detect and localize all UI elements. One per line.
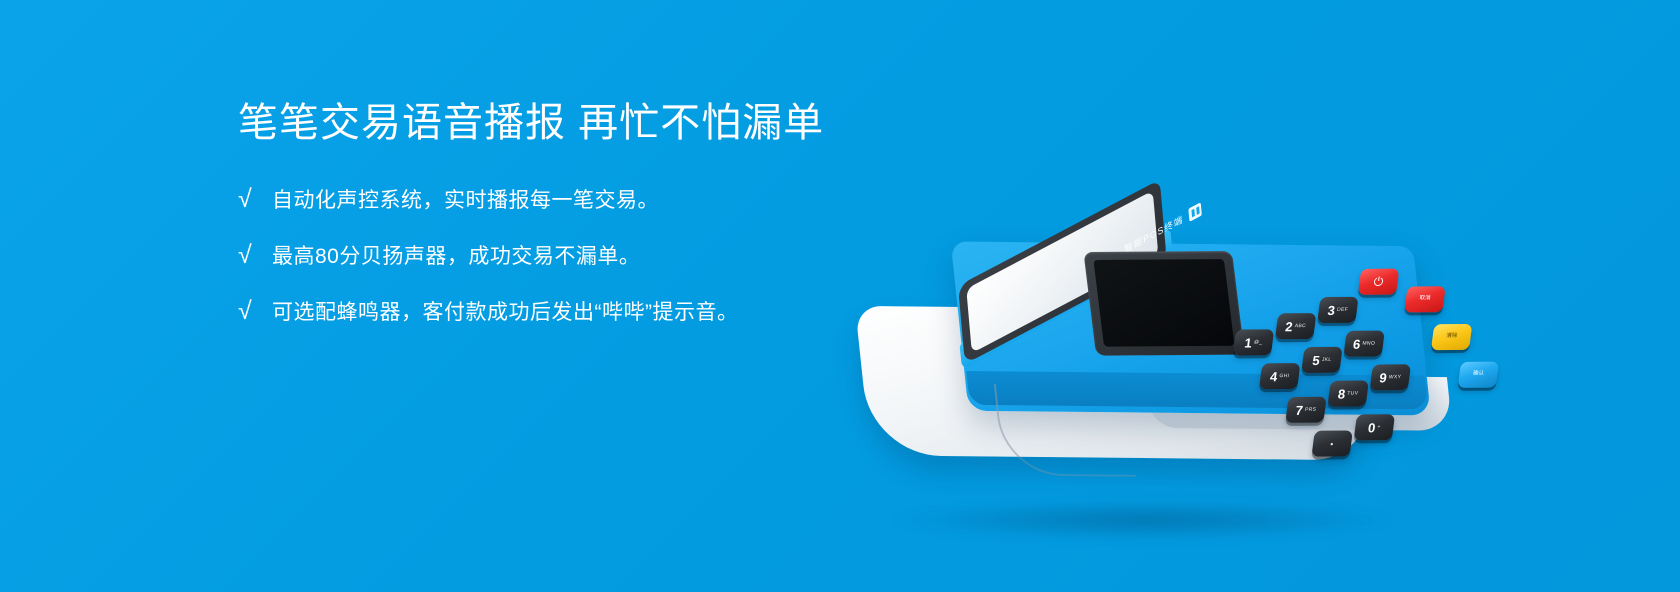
copy-block: 笔笔交易语音播报 再忙不怕漏单 √ 自动化声控系统，实时播报每一笔交易。 √ 最… [238, 98, 938, 352]
key-clear-label: 清除 [1446, 334, 1458, 340]
key-cancel-label: 取消 [1419, 296, 1431, 302]
key-6[interactable]: 6MNO [1343, 331, 1384, 357]
device-keypad: 1@_2ABC3DEF4GHI5JKL6MNO7PRS8TUV9WXY·0+⏻取… [1225, 266, 1474, 417]
pos-terminal-illustration: 智能POS终端 1@_2ABC3DEF4GHI5JKL6MNO7PRS8TUV9… [845, 200, 1505, 560]
check-icon: √ [238, 184, 272, 214]
key-clear[interactable]: 清除 [1431, 324, 1472, 350]
key-8-digit: 8 [1337, 387, 1346, 400]
key-dot[interactable]: · [1311, 430, 1352, 456]
key-dot-digit: · [1329, 437, 1335, 450]
key-2[interactable]: 2ABC [1275, 313, 1316, 339]
key-6-digit: 6 [1352, 337, 1361, 350]
key-0[interactable]: 0+ [1354, 414, 1395, 440]
list-item: √ 自动化声控系统，实时播报每一笔交易。 [238, 184, 938, 214]
key-9-digit: 9 [1379, 371, 1388, 384]
check-icon: √ [238, 240, 272, 270]
key-1[interactable]: 1@_ [1233, 329, 1274, 355]
key-6-letters: MNO [1362, 341, 1375, 346]
list-item-label: 最高80分贝扬声器，成功交易不漏单。 [272, 244, 640, 269]
key-enter-label: 确认 [1472, 372, 1484, 378]
key-8-letters: TUV [1347, 391, 1359, 396]
key-4[interactable]: 4GHI [1259, 363, 1300, 389]
key-3-letters: DEF [1337, 307, 1349, 312]
list-item: √ 可选配蜂鸣器，客付款成功后发出“哔哔”提示音。 [238, 296, 938, 326]
key-7-digit: 7 [1295, 403, 1304, 416]
key-2-letters: ABC [1294, 324, 1306, 329]
key-power-label: ⏻ [1373, 276, 1384, 288]
key-9[interactable]: 9WXY [1370, 364, 1411, 390]
key-8[interactable]: 8TUV [1327, 380, 1368, 406]
key-5-digit: 5 [1312, 353, 1321, 366]
page-title: 笔笔交易语音播报 再忙不怕漏单 [238, 98, 938, 148]
key-5[interactable]: 5JKL [1301, 347, 1342, 373]
key-7[interactable]: 7PRS [1285, 397, 1326, 423]
list-item-label: 可选配蜂鸣器，客付款成功后发出“哔哔”提示音。 [272, 300, 739, 325]
device-screen [1083, 251, 1244, 356]
key-5-letters: JKL [1321, 357, 1331, 362]
key-1-digit: 1 [1244, 336, 1253, 349]
key-3[interactable]: 3DEF [1317, 297, 1358, 323]
brand-mark-icon [1188, 202, 1202, 222]
key-cancel[interactable]: 取消 [1404, 286, 1445, 312]
key-enter[interactable]: 确认 [1458, 362, 1499, 388]
key-4-digit: 4 [1269, 370, 1278, 383]
key-3-digit: 3 [1327, 303, 1336, 316]
key-1-letters: @_ [1254, 340, 1263, 345]
key-4-letters: GHI [1279, 374, 1289, 379]
key-0-letters: + [1377, 425, 1381, 430]
key-power[interactable]: ⏻ [1358, 269, 1399, 295]
key-2-digit: 2 [1285, 320, 1294, 333]
key-0-digit: 0 [1367, 421, 1376, 434]
key-9-letters: WXY [1388, 375, 1401, 380]
screen-glass [1093, 259, 1234, 347]
promo-banner: 笔笔交易语音播报 再忙不怕漏单 √ 自动化声控系统，实时播报每一笔交易。 √ 最… [0, 0, 1680, 592]
key-7-letters: PRS [1305, 407, 1317, 412]
list-item-label: 自动化声控系统，实时播报每一笔交易。 [272, 188, 659, 213]
check-icon: √ [238, 296, 272, 326]
device-grip-seam [994, 384, 1136, 477]
